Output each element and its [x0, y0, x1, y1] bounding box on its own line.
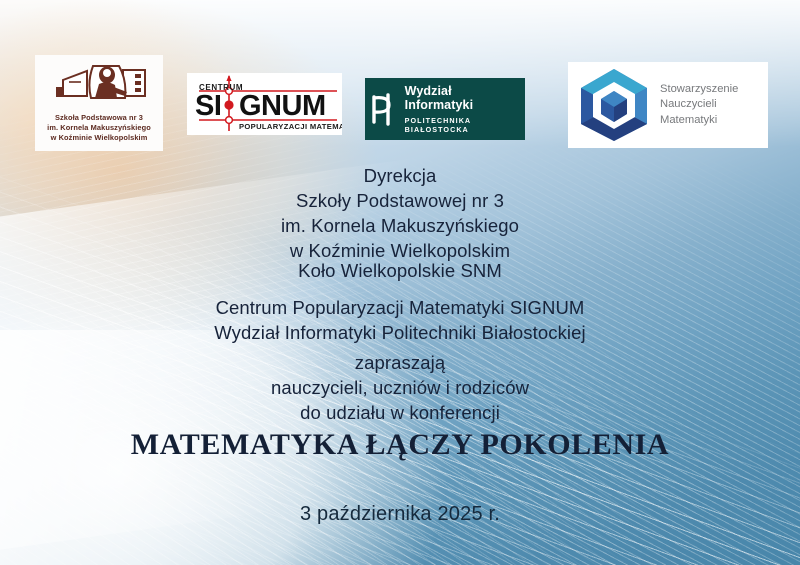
stowarzyszenie-nauczycieli-matematyki-logo: Stowarzyszenie Nauczycieli Matematyki: [568, 62, 768, 148]
conference-poster: Szkoła Podstawowa nr 3 im. Kornela Makus…: [0, 0, 800, 565]
logo-row: Szkoła Podstawowa nr 3 im. Kornela Makus…: [0, 0, 800, 160]
organizer-line-kolo: Koło Wielkopolskie SNM: [0, 258, 800, 283]
signum-axes-icon: CENTRUM SI GNUM POPULARYZACJI MATEMATYKI: [187, 73, 342, 135]
organizer-signum-block: Centrum Popularyzacji Matematyki SIGNUM …: [0, 295, 800, 345]
school-logo-line-1: Szkoła Podstawowa nr 3: [47, 113, 151, 123]
wydzial-informatyki-text: Wydział Informatyki POLITECHNIKA BIAŁOST…: [405, 84, 525, 134]
invitation-line-1: zapraszają: [0, 350, 800, 375]
organizer-snm-block: Koło Wielkopolskie SNM: [0, 258, 800, 283]
organizer-line-szkola: Szkoły Podstawowej nr 3: [0, 188, 800, 213]
invitation-line-3: do udziału w konferencji: [0, 400, 800, 425]
snm-line-3: Matematyki: [660, 113, 738, 129]
wi-subline: POLITECHNIKA BIAŁOSTOCKA: [405, 116, 525, 134]
svg-text:POPULARYZACJI MATEMATYKI: POPULARYZACJI MATEMATYKI: [239, 122, 342, 131]
conference-title-block: MATEMATYKA ŁĄCZY POKOLENIA: [0, 428, 800, 462]
school-logo-text: Szkoła Podstawowa nr 3 im. Kornela Makus…: [47, 113, 151, 143]
wi-line-2: Informatyki: [405, 98, 525, 112]
organizer-school-block: Dyrekcja Szkoły Podstawowej nr 3 im. Kor…: [0, 163, 800, 263]
szkola-podstawowa-nr-3-logo: Szkoła Podstawowa nr 3 im. Kornela Makus…: [35, 55, 163, 151]
invitation-line-2: nauczycieli, uczniów i rodziców: [0, 375, 800, 400]
school-logo-line-3: w Koźminie Wielkopolskim: [47, 133, 151, 143]
svg-text:GNUM: GNUM: [239, 90, 326, 122]
snm-line-2: Nauczycieli: [660, 97, 738, 113]
invitation-block: zapraszają nauczycieli, uczniów i rodzic…: [0, 350, 800, 425]
conference-date: 3 października 2025 r.: [0, 503, 800, 526]
organizer-line-dyrekcja: Dyrekcja: [0, 163, 800, 188]
wi-line-1: Wydział: [405, 84, 525, 98]
school-building-icon: [47, 62, 151, 109]
centrum-popularyzacji-matematyki-signum-logo: CENTRUM SI GNUM POPULARYZACJI MATEMATYKI: [187, 73, 342, 135]
snm-line-1: Stowarzyszenie: [660, 82, 738, 98]
school-logo-line-2: im. Kornela Makuszyńskiego: [47, 123, 151, 133]
politechnika-bialostocka-monogram-icon: [365, 92, 405, 126]
conference-date-block: 3 października 2025 r.: [0, 503, 800, 526]
conference-title: MATEMATYKA ŁĄCZY POKOLENIA: [0, 428, 800, 462]
wydzial-informatyki-politechnika-bialostocka-logo: Wydział Informatyki POLITECHNIKA BIAŁOST…: [365, 78, 525, 140]
organizer-line-centrum: Centrum Popularyzacji Matematyki SIGNUM: [0, 295, 800, 320]
organizer-line-patron: im. Kornela Makuszyńskiego: [0, 213, 800, 238]
snm-hexagon-icon: [568, 67, 660, 143]
snm-logo-text: Stowarzyszenie Nauczycieli Matematyki: [660, 82, 738, 129]
svg-text:SI: SI: [195, 90, 221, 122]
organizer-line-wydzial: Wydział Informatyki Politechniki Białost…: [0, 320, 800, 345]
